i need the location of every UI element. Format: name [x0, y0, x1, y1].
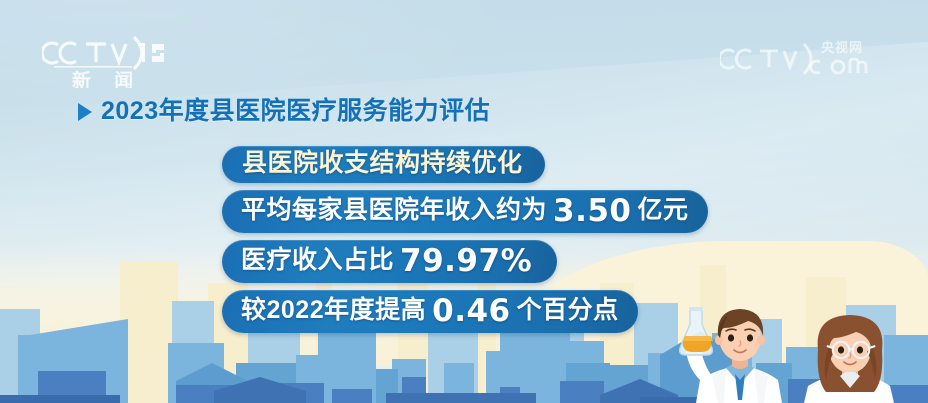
- pill-text: 医疗收入占比: [241, 248, 394, 273]
- stat-pill-list: 县医院收支结构持续优化 平均每家县医院年收入约为 3.50 亿元 医疗收入占比 …: [222, 146, 708, 333]
- cctv-com-watermark: 央视网: [720, 36, 888, 82]
- svg-text:央视网: 央视网: [821, 40, 863, 55]
- stat-pill-medical-share: 医疗收入占比 79.97%: [222, 240, 557, 283]
- pill-text: 平均每家县医院年收入约为: [241, 198, 547, 223]
- page-title: 2023年度县医院医疗服务能力评估: [101, 99, 490, 124]
- pill-text: 较2022年度提高: [241, 298, 426, 323]
- broadcast-graphic: 新 闻 央视网 2023年度县医院医: [0, 0, 928, 403]
- pill-value: 79.97%: [394, 246, 538, 277]
- pill-unit: 个百分点: [517, 298, 619, 323]
- stat-pill-structure: 县医院收支结构持续优化: [222, 146, 545, 183]
- headline: 2023年度县医院医疗服务能力评估: [78, 99, 490, 124]
- pill-unit: 亿元: [638, 198, 689, 223]
- pill-value: 0.46: [426, 296, 517, 327]
- stat-pill-average-income: 平均每家县医院年收入约为 3.50 亿元: [222, 190, 708, 233]
- cctv13-logo: 新 闻: [42, 33, 177, 88]
- triangle-right-icon: [78, 103, 92, 121]
- stat-pill-yoy-change: 较2022年度提高 0.46 个百分点: [222, 290, 638, 333]
- pill-value: 3.50: [547, 196, 638, 227]
- pill-text: 县医院收支结构持续优化: [242, 151, 523, 176]
- svg-text:新 闻: 新 闻: [72, 69, 142, 88]
